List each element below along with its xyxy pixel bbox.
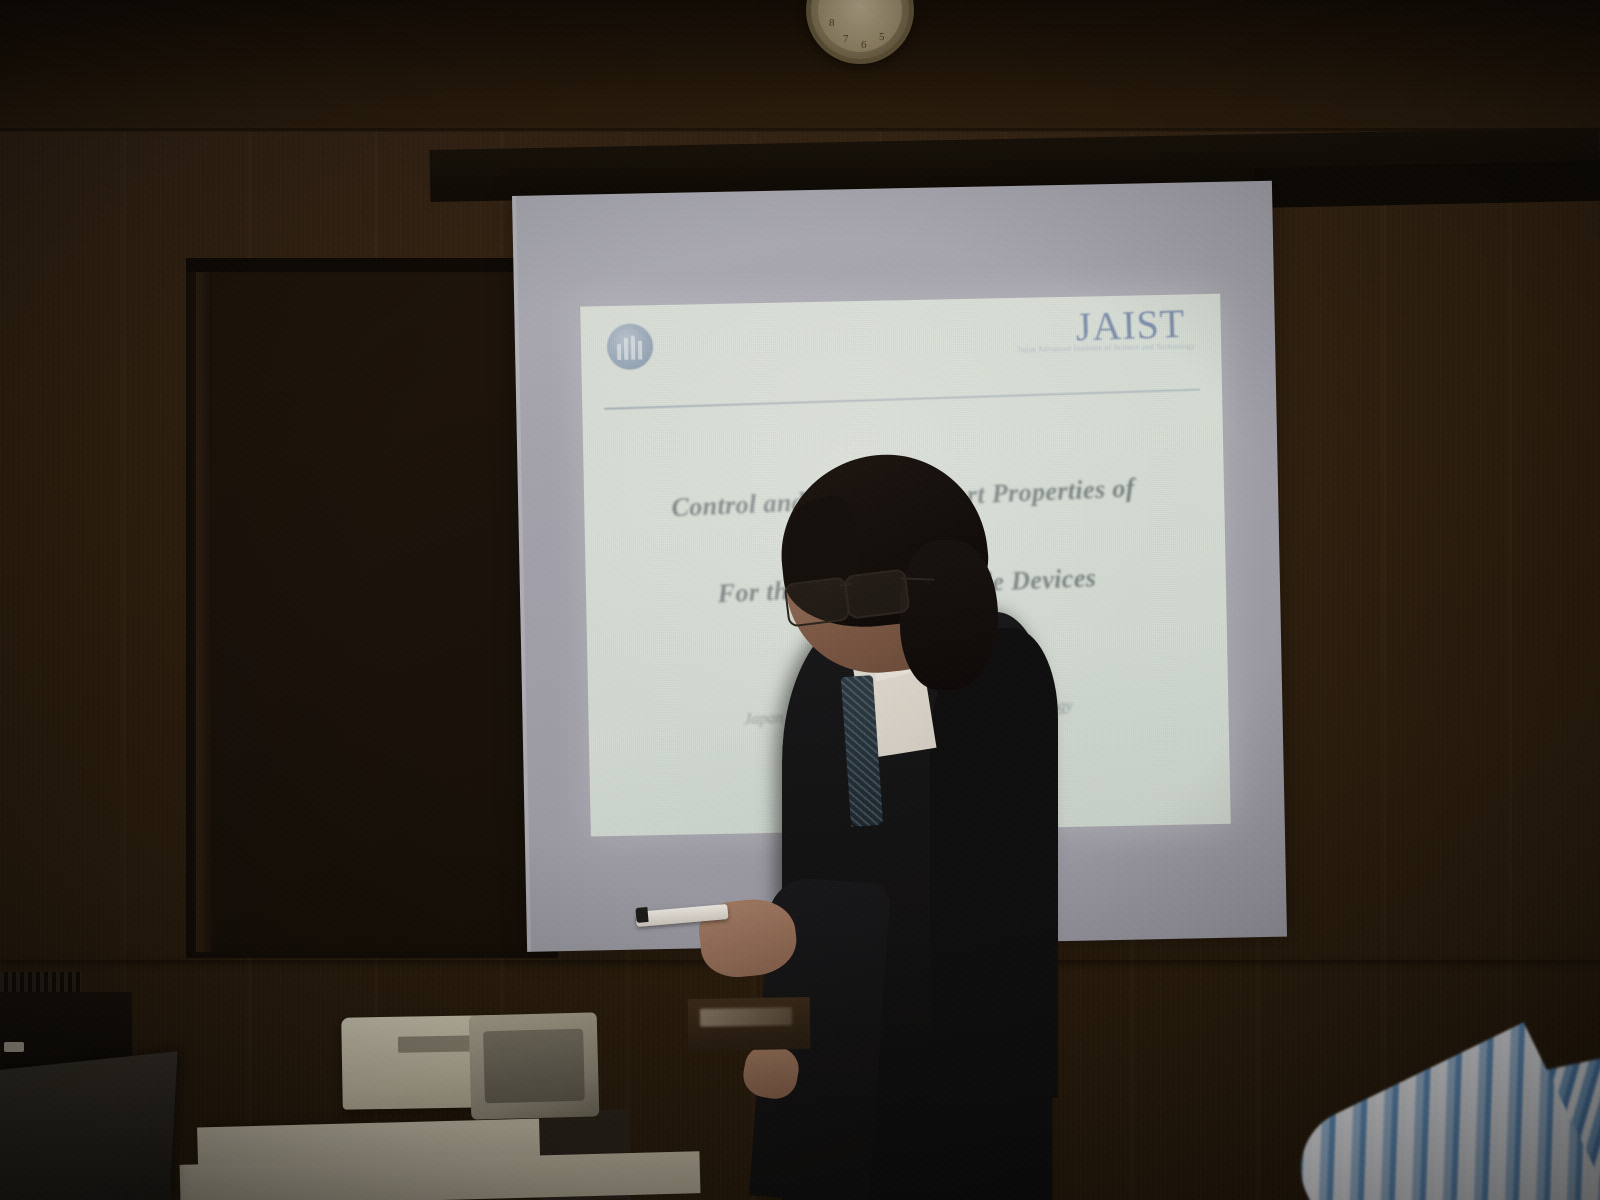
laser-pointer-tip (635, 907, 648, 923)
lectern-label-plate (700, 1007, 792, 1027)
glasses-right-lens-icon (844, 568, 911, 619)
overhead-projector-mirror (483, 1029, 585, 1104)
photo-scene: 8 7 6 5 JAIST Japan Advanced Institute o… (0, 0, 1600, 1200)
laptop (0, 1051, 177, 1200)
presenter-shoulder (930, 628, 1058, 1098)
av-control-unit-indicator (4, 1042, 24, 1052)
presenter-hair-side (900, 540, 998, 690)
